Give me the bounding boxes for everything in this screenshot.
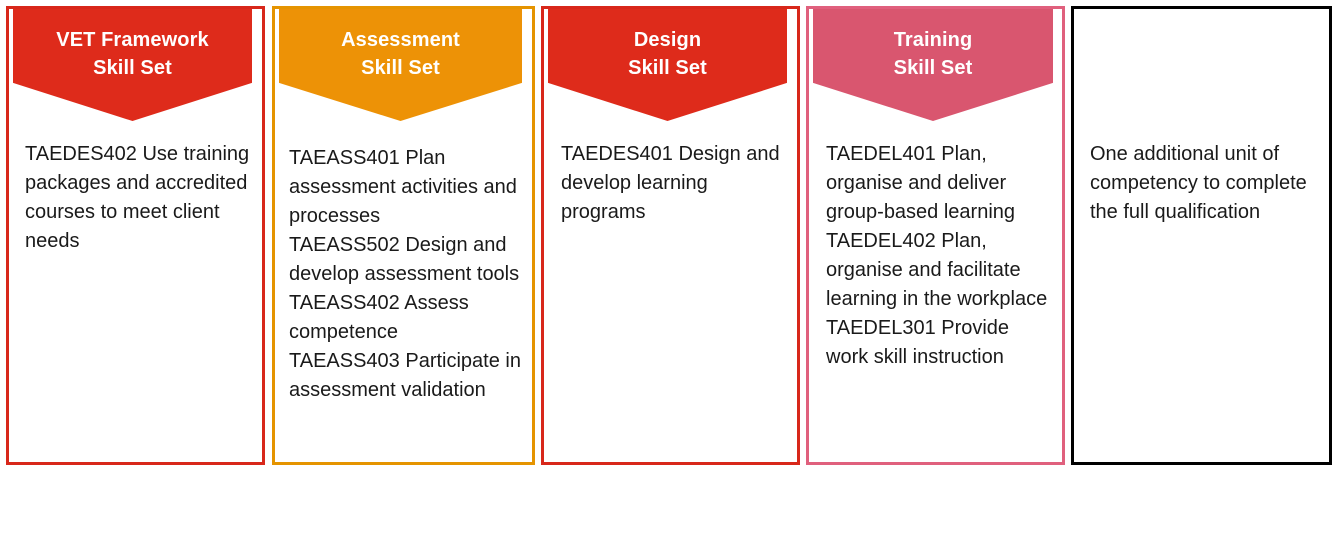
card-banner-design: Design Skill Set bbox=[548, 9, 787, 121]
card-body-text: One additional unit of competency to com… bbox=[1090, 140, 1319, 227]
card-banner-title: Design Skill Set bbox=[628, 26, 707, 82]
card-banner-title: VET Framework Skill Set bbox=[56, 26, 208, 82]
card-body-text: TAEASS401 Plan assessment activities and… bbox=[289, 144, 526, 405]
card-banner-title: Assessment Skill Set bbox=[341, 26, 460, 82]
card-banner-vet-framework: VET Framework Skill Set bbox=[13, 9, 252, 121]
card-banner-title: Training Skill Set bbox=[894, 26, 973, 82]
card-banner-training: Training Skill Set bbox=[813, 9, 1053, 121]
card-body-text: TAEDES402 Use training packages and accr… bbox=[25, 140, 252, 256]
skill-sets-diagram: VET Framework Skill Set TAEDES402 Use tr… bbox=[0, 0, 1338, 544]
skill-set-card-design: Design Skill Set TAEDES401 Design and de… bbox=[541, 6, 800, 465]
skill-set-card-training: Training Skill Set TAEDEL401 Plan, organ… bbox=[806, 6, 1065, 465]
skill-set-card-additional-unit: One additional unit of competency to com… bbox=[1071, 6, 1332, 465]
card-banner-assessment: Assessment Skill Set bbox=[279, 9, 522, 121]
card-body-text: TAEDEL401 Plan, organise and deliver gro… bbox=[826, 140, 1056, 372]
skill-set-card-vet-framework: VET Framework Skill Set TAEDES402 Use tr… bbox=[6, 6, 265, 465]
card-body-text: TAEDES401 Design and develop learning pr… bbox=[561, 140, 787, 227]
skill-set-card-assessment: Assessment Skill Set TAEASS401 Plan asse… bbox=[272, 6, 535, 465]
